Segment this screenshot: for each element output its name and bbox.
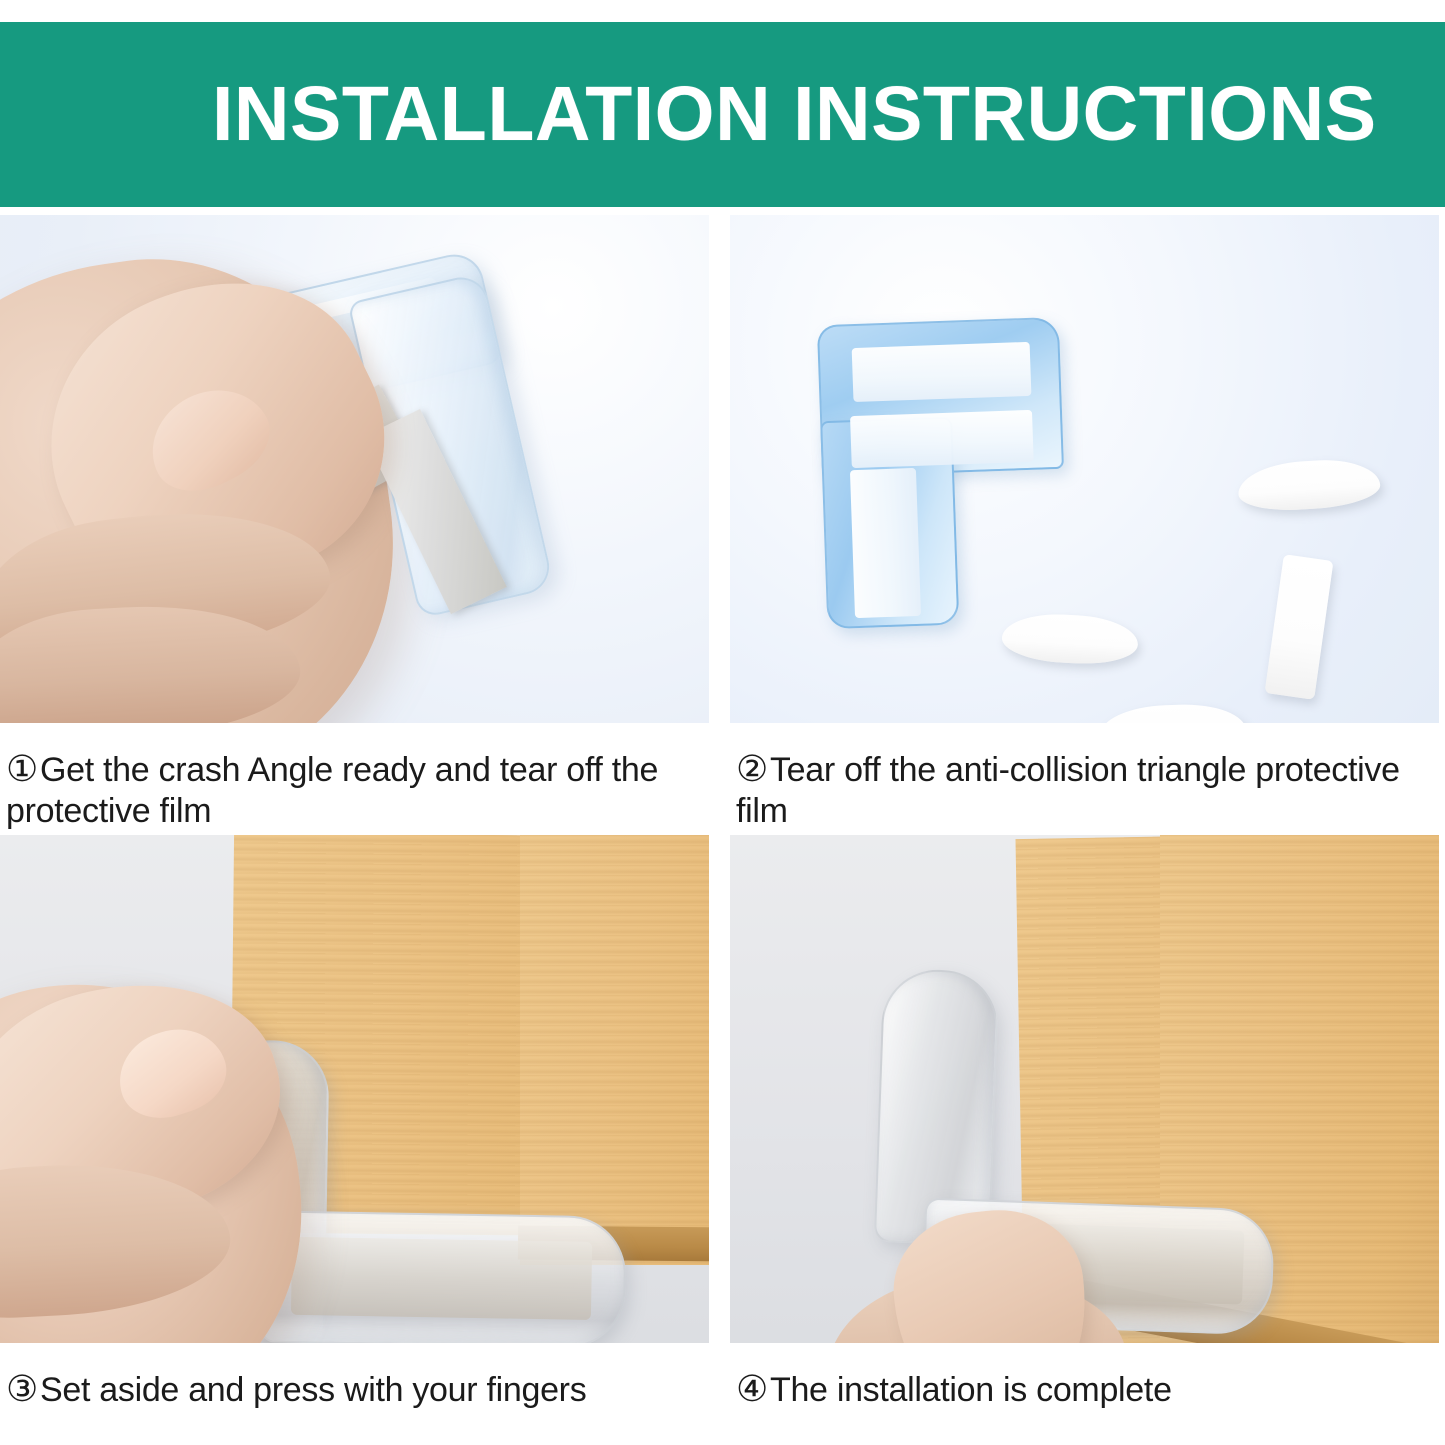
step-4-text: The installation is complete	[770, 1371, 1172, 1409]
steps-grid: ①Get the crash Angle ready and tear off …	[0, 215, 1445, 1445]
step-3-caption: ③Set aside and press with your fingers	[0, 1343, 709, 1411]
step-3-text: Set aside and press with your fingers	[40, 1371, 586, 1409]
step-4-image	[730, 835, 1439, 1343]
protective-film-strip	[1265, 554, 1334, 700]
corner-guard-blue	[817, 317, 1067, 625]
page-title: INSTALLATION INSTRUCTIONS	[212, 76, 1377, 153]
protective-film-strip	[1236, 456, 1381, 514]
step-3-image	[0, 835, 709, 1343]
step-3: ③Set aside and press with your fingers	[0, 835, 709, 1411]
step-3-number: ③	[6, 1368, 40, 1409]
step-4-number: ④	[736, 1368, 770, 1409]
step-1: ①Get the crash Angle ready and tear off …	[0, 215, 709, 833]
step-4-caption: ④The installation is complete	[730, 1343, 1439, 1411]
step-2: ②Tear off the anti-collision triangle pr…	[730, 215, 1439, 833]
protective-film-strip	[1099, 702, 1247, 723]
step-2-text: Tear off the anti-collision triangle pro…	[736, 751, 1400, 830]
step-1-text: Get the crash Angle ready and tear off t…	[6, 751, 658, 830]
step-1-number: ①	[6, 748, 40, 789]
installation-instructions-page: INSTALLATION INSTRUCTIONS	[0, 0, 1445, 1445]
adhesive-pad	[850, 468, 921, 618]
adhesive-pad	[852, 342, 1032, 402]
step-2-number: ②	[736, 748, 770, 789]
header-banner: INSTALLATION INSTRUCTIONS	[0, 22, 1445, 207]
step-2-caption: ②Tear off the anti-collision triangle pr…	[730, 723, 1439, 833]
adhesive-pad	[850, 410, 1034, 468]
step-1-image	[0, 215, 709, 723]
protective-film-strip	[1001, 611, 1139, 666]
step-2-image	[730, 215, 1439, 723]
step-1-caption: ①Get the crash Angle ready and tear off …	[0, 723, 709, 833]
step-4: ④The installation is complete	[730, 835, 1439, 1411]
adhesive-tape	[291, 1237, 592, 1320]
